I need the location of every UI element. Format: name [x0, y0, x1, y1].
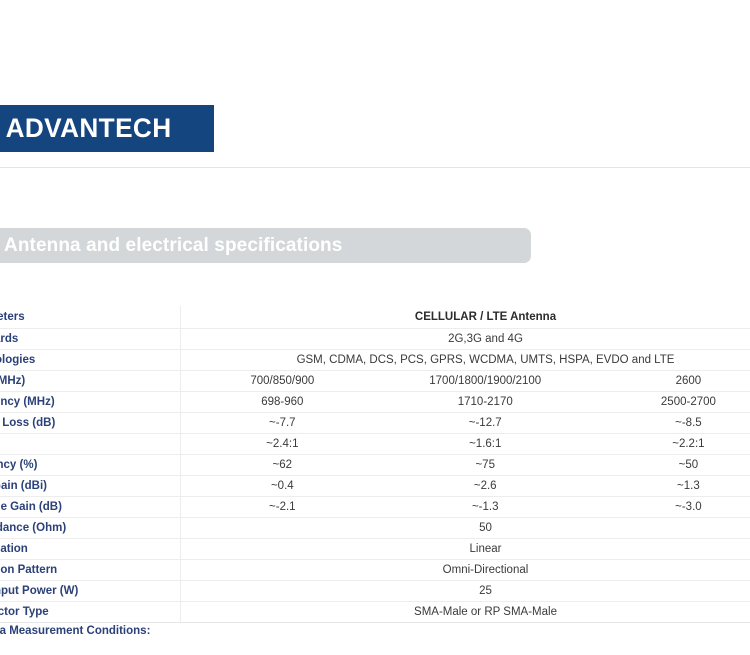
brand-header: ADVANTECH: [0, 105, 750, 153]
row-value: 700/850/900: [181, 371, 384, 392]
row-value: 698-960: [181, 392, 384, 413]
row-value: ~-3.0: [587, 497, 750, 518]
row-value: ~50: [587, 455, 750, 476]
row-value: ~2.2:1: [587, 434, 750, 455]
measurement-note: Antenna Measurement Conditions: -: [0, 625, 460, 655]
antenna-spec-table: Parameters CELLULAR / LTE Antenna Standa…: [0, 306, 750, 623]
row-label: Band (MHz): [0, 371, 181, 392]
row-value: 1700/1800/1900/2100: [384, 371, 587, 392]
table-row: VSWR~2.4:1~1.6:1~2.2:1: [0, 434, 750, 455]
param-column-header: Parameters: [0, 306, 181, 329]
row-value: Omni-Directional: [181, 560, 750, 581]
table-header-row: Parameters CELLULAR / LTE Antenna: [0, 306, 750, 329]
row-label: Max. Input Power (W): [0, 581, 181, 602]
row-value: GSM, CDMA, DCS, PCS, GPRS, WCDMA, UMTS, …: [181, 350, 750, 371]
table-row: TechnologiesGSM, CDMA, DCS, PCS, GPRS, W…: [0, 350, 750, 371]
row-label: Impendance (Ohm): [0, 518, 181, 539]
row-value: ~-8.5: [587, 413, 750, 434]
table-row: Max. Input Power (W)25: [0, 581, 750, 602]
row-value: SMA-Male or RP SMA-Male: [181, 602, 750, 623]
table-row: Impendance (Ohm)50: [0, 518, 750, 539]
row-value: 2G,3G and 4G: [181, 329, 750, 350]
row-value: ~1.6:1: [384, 434, 587, 455]
table-row: Standards2G,3G and 4G: [0, 329, 750, 350]
row-label: Polarisation: [0, 539, 181, 560]
row-value: ~0.4: [181, 476, 384, 497]
table-row: Peak Gain (dBi)~0.4~2.6~1.3: [0, 476, 750, 497]
row-value: ~2.6: [384, 476, 587, 497]
row-label: Radiation Pattern: [0, 560, 181, 581]
header-divider: [0, 167, 750, 168]
row-value: ~-1.3: [384, 497, 587, 518]
row-value: ~1.3: [587, 476, 750, 497]
row-label: Efficiency (%): [0, 455, 181, 476]
row-value: Linear: [181, 539, 750, 560]
row-label: Technologies: [0, 350, 181, 371]
section-header-bar: Antenna and electrical specifications: [0, 228, 531, 263]
row-value: ~-2.1: [181, 497, 384, 518]
table-row: Return Loss (dB)~-7.7~-12.7~-8.5: [0, 413, 750, 434]
row-label: Average Gain (dB): [0, 497, 181, 518]
measurement-note-title: Antenna Measurement Conditions:: [0, 625, 460, 637]
row-label: VSWR: [0, 434, 181, 455]
row-label: Standards: [0, 329, 181, 350]
row-value: 50: [181, 518, 750, 539]
row-value: 1710-2170: [384, 392, 587, 413]
spec-table-body: Parameters CELLULAR / LTE Antenna Standa…: [0, 306, 750, 623]
row-value: 25: [181, 581, 750, 602]
value-column-header: CELLULAR / LTE Antenna: [181, 306, 750, 329]
table-row: Radiation PatternOmni-Directional: [0, 560, 750, 581]
section-title: Antenna and electrical specifications: [0, 235, 342, 257]
table-row: Connector TypeSMA-Male or RP SMA-Male: [0, 602, 750, 623]
row-value: ~2.4:1: [181, 434, 384, 455]
row-label: Frequency (MHz): [0, 392, 181, 413]
table-row: Efficiency (%)~62~75~50: [0, 455, 750, 476]
row-value: ~75: [384, 455, 587, 476]
table-row: Average Gain (dB)~-2.1~-1.3~-3.0: [0, 497, 750, 518]
row-value: ~62: [181, 455, 384, 476]
table-row: Band (MHz)700/850/9001700/1800/1900/2100…: [0, 371, 750, 392]
row-label: Connector Type: [0, 602, 181, 623]
table-row: Frequency (MHz)698-9601710-21702500-2700: [0, 392, 750, 413]
advantech-logo: ADVANTECH: [0, 105, 214, 152]
row-label: Peak Gain (dBi): [0, 476, 181, 497]
advantech-logo-text: ADVANTECH: [6, 113, 172, 144]
row-value: ~-12.7: [384, 413, 587, 434]
table-row: PolarisationLinear: [0, 539, 750, 560]
row-label: Return Loss (dB): [0, 413, 181, 434]
row-value: 2500-2700: [587, 392, 750, 413]
row-value: 2600: [587, 371, 750, 392]
measurement-note-bullet: -: [0, 643, 460, 655]
row-value: ~-7.7: [181, 413, 384, 434]
